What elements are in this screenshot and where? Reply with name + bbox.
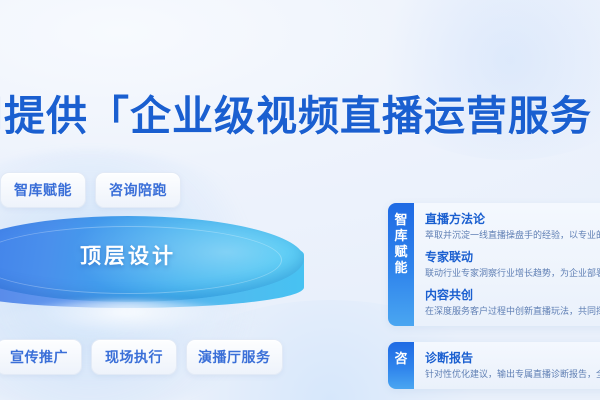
service-structure-diagram: 智库赋能 咨询陪跑 顶层设计 宣传推广 现场执行 演播厅服务 [0, 172, 332, 400]
panel-tab-zhiku-funeng: 智 库 赋 能 [388, 203, 414, 326]
chip-label: 现场执行 [105, 347, 163, 367]
panel-body: 诊断报告 针对性优化建议，输出专属直播诊断报告，全方 [414, 342, 600, 389]
panel-item-desc: 联动行业专家洞察行业增长趋势，为企业部署直 [425, 267, 600, 279]
panel-item-desc: 针对性优化建议，输出专属直播诊断报告，全方 [425, 368, 600, 380]
panel-item-desc: 萃取并沉淀一线直播操盘手的经验，以专业的直 [425, 229, 600, 241]
panel-item-title: 直播方法论 [425, 212, 600, 227]
chip-label: 咨询陪跑 [109, 180, 167, 200]
panel-body: 直播方法论 萃取并沉淀一线直播操盘手的经验，以专业的直 专家联动 联动行业专家洞… [414, 203, 600, 326]
panel-tab-zixun-peipao: 咨 [388, 342, 414, 389]
chip-label: 智库赋能 [14, 180, 72, 200]
panel-tab-char: 赋 [388, 244, 414, 260]
panel-tab-char: 咨 [388, 351, 414, 367]
panel-tab-char: 能 [388, 260, 414, 276]
panel-item-title: 专家联动 [425, 250, 600, 265]
service-detail-panels: 智 库 赋 能 直播方法论 萃取并沉淀一线直播操盘手的经验，以专业的直 专家联动… [388, 203, 600, 400]
panel-tab-char: 库 [388, 228, 414, 244]
disc-label: 顶层设计 [0, 240, 304, 270]
center-disc: 顶层设计 [0, 216, 304, 332]
panel-item-desc: 在深度服务客户过程中创新直播玩法，共同探 [425, 305, 600, 317]
diagram-chip-yanbo-ting-fuwu[interactable]: 演播厅服务 [186, 339, 283, 375]
diagram-chip-xuanchuan-tuiguang[interactable]: 宣传推广 [0, 339, 82, 375]
panel-item[interactable]: 专家联动 联动行业专家洞察行业增长趋势，为企业部署直 [425, 250, 600, 279]
page-title: 门提供「企业级视频直播运营服务 [0, 88, 600, 144]
panel-item[interactable]: 内容共创 在深度服务客户过程中创新直播玩法，共同探 [425, 288, 600, 317]
diagram-chip-zixun-peipao[interactable]: 咨询陪跑 [95, 172, 181, 208]
chip-label: 演播厅服务 [198, 347, 271, 367]
panel-item[interactable]: 直播方法论 萃取并沉淀一线直播操盘手的经验，以专业的直 [425, 212, 600, 241]
slide-canvas: 门提供「企业级视频直播运营服务 智库赋能 咨询陪跑 顶层设计 宣传推广 现场执行 [0, 0, 600, 400]
panel-item-title: 诊断报告 [425, 351, 600, 366]
panel-tab-char: 智 [388, 212, 414, 228]
panel-item[interactable]: 诊断报告 针对性优化建议，输出专属直播诊断报告，全方 [425, 351, 600, 380]
panel-zhiku-funeng[interactable]: 智 库 赋 能 直播方法论 萃取并沉淀一线直播操盘手的经验，以专业的直 专家联动… [388, 203, 600, 326]
diagram-bottom-chip-row: 宣传推广 现场执行 演播厅服务 [0, 339, 283, 375]
panel-item-title: 内容共创 [425, 288, 600, 303]
panel-zixun-peipao[interactable]: 咨 诊断报告 针对性优化建议，输出专属直播诊断报告，全方 [388, 342, 600, 389]
diagram-chip-xianchang-zhixing[interactable]: 现场执行 [91, 339, 177, 375]
chip-label: 宣传推广 [10, 347, 68, 367]
diagram-chip-zhiku-funeng[interactable]: 智库赋能 [0, 172, 86, 208]
diagram-top-chip-row: 智库赋能 咨询陪跑 [0, 172, 181, 208]
